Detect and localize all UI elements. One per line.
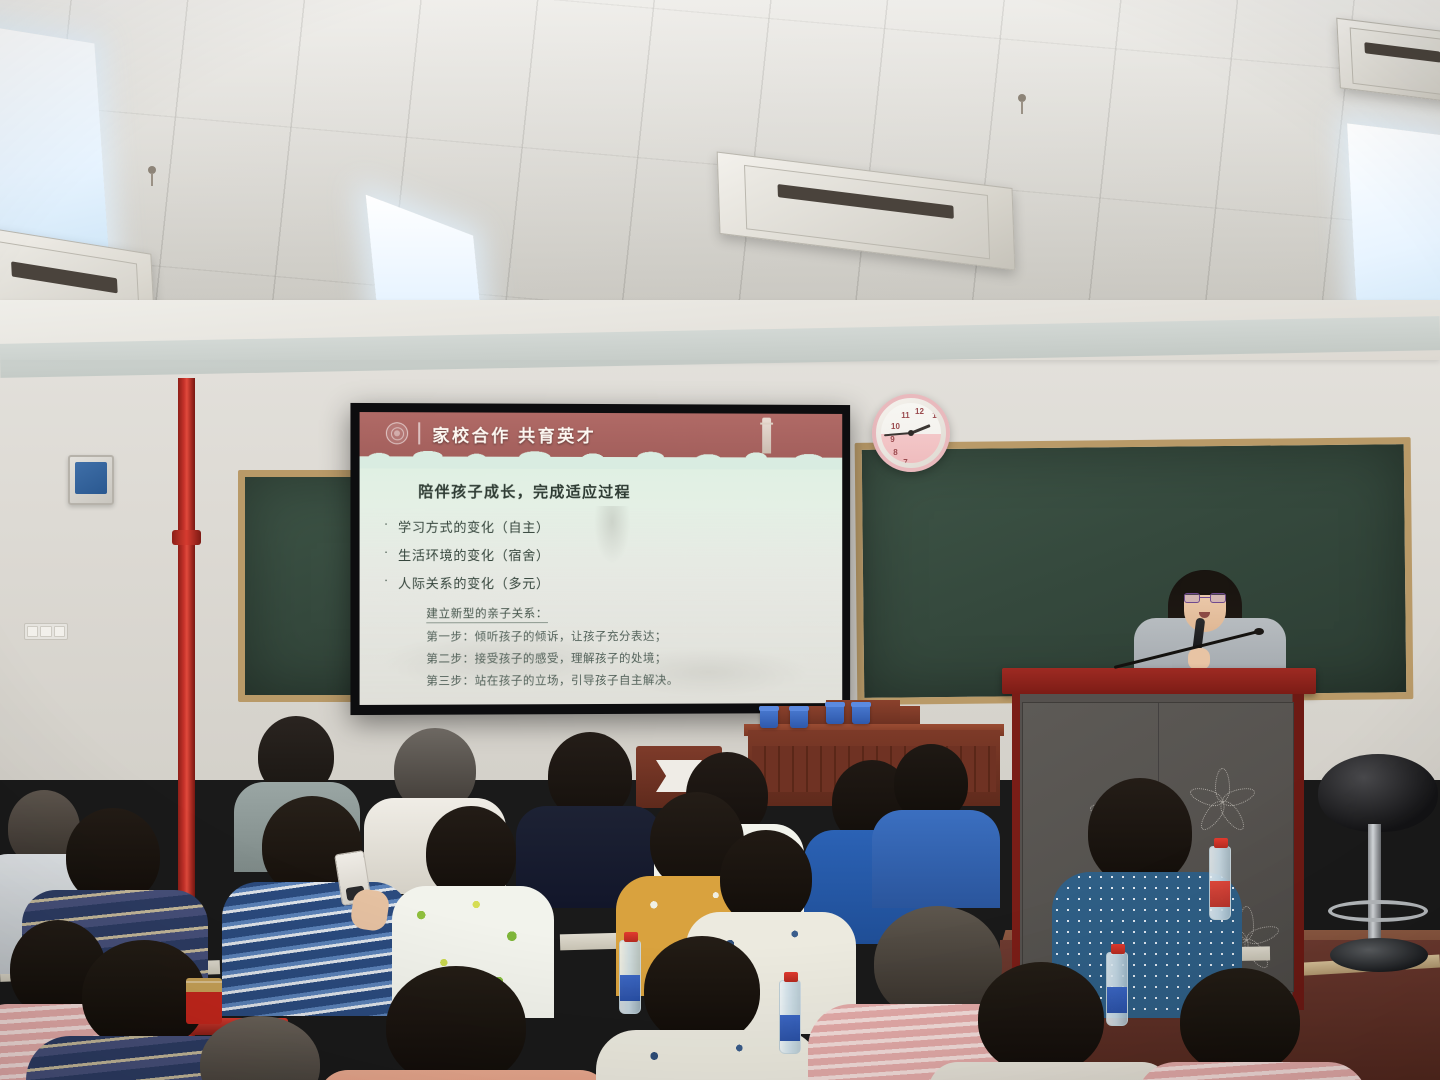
bullet-marker-icon: · [384,573,389,586]
slide-bullet-item: · 人际关系的变化（多元） [384,573,828,592]
person-head [1088,778,1192,886]
water-bottle [1106,952,1128,1026]
clock-numeral: 12 [914,406,925,417]
person-head [386,966,526,1080]
stool-footrest-ring [1328,900,1428,922]
slide-step-item: 第二步：接受孩子的感受，理解孩子的处境； [426,649,827,666]
slide-title: 陪伴孩子成长，完成适应过程 [418,481,631,502]
pipe-collar [172,530,201,545]
slide-sub-heading: 建立新型的亲子关系： [426,605,548,623]
bullet-text: 学习方式的变化（自主） [398,517,550,536]
blue-cup [852,702,870,724]
ceiling-light-panel [1347,123,1440,326]
person-head [978,962,1104,1074]
ac-control-panel[interactable] [68,455,114,505]
sprinkler-head-icon [146,166,157,186]
water-bottle [1209,846,1231,920]
bullet-marker-icon: · [384,545,389,558]
slide-bullet-item: · 生活环境的变化（宿舍） [384,545,828,564]
slide-step-item: 第一步：倾听孩子的倾诉，让孩子充分表达； [426,628,827,645]
water-bottle [779,980,801,1054]
ceiling [0,0,1440,340]
audience-member [170,1016,370,1080]
clock-numeral: 11 [900,410,911,421]
banner-torn-edge [360,446,843,469]
banner-divider [418,422,420,444]
clock-numeral: 6 [914,460,925,463]
person-body [928,1062,1172,1080]
bullet-text: 人际关系的变化（多元） [398,573,550,592]
stool-seat [1318,754,1438,832]
bullet-marker-icon: · [384,517,389,530]
slide-banner-text: 家校合作 共育英才 [432,421,596,447]
clock-center-pin [908,430,914,436]
person-body [872,810,1000,908]
slide-step-item: 第三步：站在孩子的立场，引导孩子自主解决。 [426,671,827,688]
lecture-hall-scene: 12 1 2 3 4 5 6 7 8 9 10 11 家校合作 共育英才 [0,0,1440,1080]
presentation-slide: 家校合作 共育英才 陪伴孩子成长，完成适应过程 · 学习方式的变化（自主） · … [360,412,843,705]
water-bottle [619,940,641,1014]
stool-base [1330,938,1428,972]
clock-numeral: 7 [900,457,911,463]
audience-member [880,744,992,904]
stool-post [1368,824,1381,942]
person-head [1180,968,1300,1074]
person-body [1136,1062,1368,1080]
slide-bullet-list: · 学习方式的变化（自主） · 生活环境的变化（宿舍） · 人际关系的变化（多元… [384,517,828,695]
bar-stool [1318,754,1438,1004]
projection-screen: 家校合作 共育英才 陪伴孩子成长，完成适应过程 · 学习方式的变化（自主） · … [350,403,850,715]
person-head [644,936,760,1044]
audience-member [336,966,586,1080]
clock-numeral: 1 [929,410,940,421]
clock-numeral: 8 [890,447,901,458]
bullet-text: 生活环境的变化（宿舍） [398,545,550,564]
university-seal-logo [386,422,408,444]
sprinkler-head-icon [1016,94,1027,114]
wall-light-switches[interactable] [24,623,68,640]
slide-bullet-item: · 学习方式的变化（自主） [384,517,828,536]
clock-numeral: 5 [929,457,940,463]
thermos-cup [186,978,222,1024]
blue-cup [826,702,844,724]
presenter-fringe [1180,571,1230,595]
blue-cup [790,706,808,728]
clock-face: 12 1 2 3 4 5 6 7 8 9 10 11 [881,403,941,463]
person-head [200,1016,320,1080]
glasses-icon [1184,593,1226,603]
blue-cup [760,706,778,728]
clock-numeral: 2 [938,421,941,432]
ceiling-light-panel [0,26,109,262]
microphone-gooseneck [1114,624,1262,674]
wall-clock: 12 1 2 3 4 5 6 7 8 9 10 11 [872,394,950,472]
clock-numeral: 10 [890,421,901,432]
audience-member [1150,968,1350,1080]
